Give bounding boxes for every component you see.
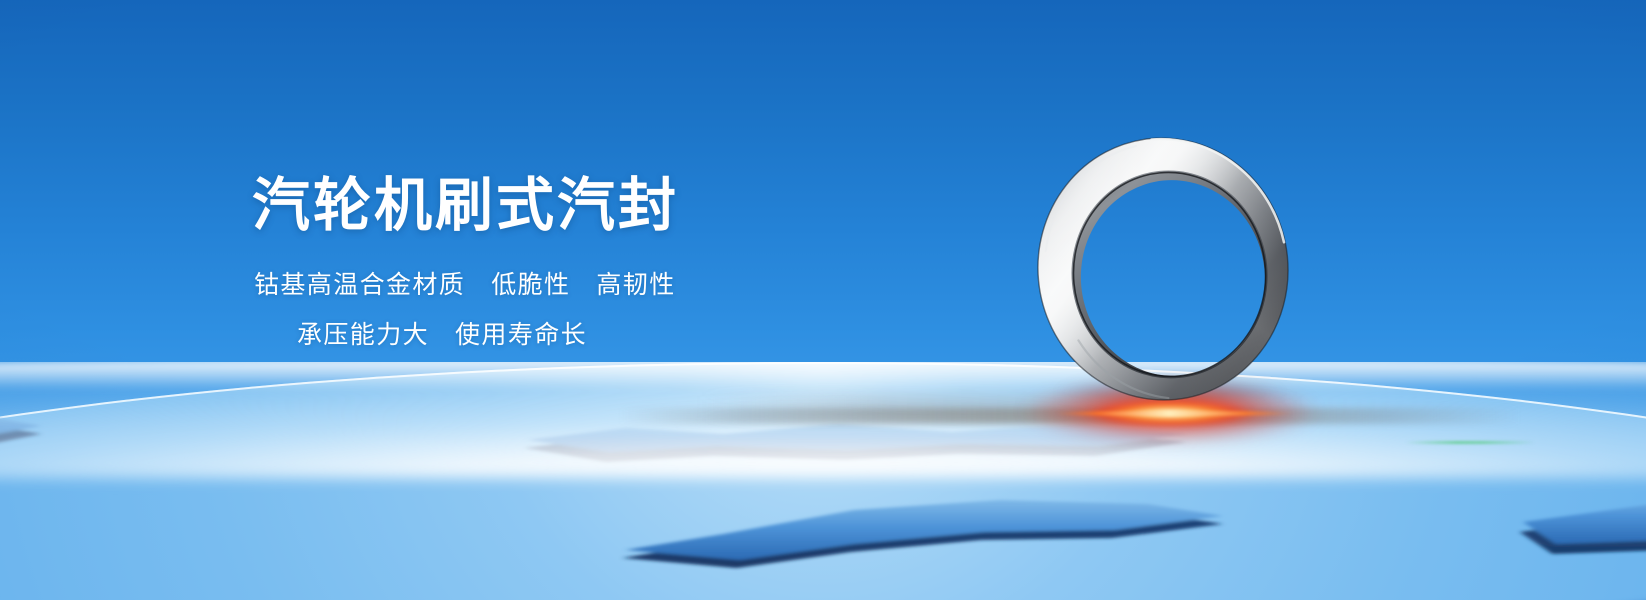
- feature-long-life: 使用寿命长: [455, 321, 587, 349]
- hero-banner: 汽轮机刷式汽封 钴基高温合金材质低脆性高韧性 承压能力大使用寿命长: [0, 0, 1646, 600]
- island-group-far-left: [0, 412, 41, 456]
- subtitle-line-1: 钴基高温合金材质低脆性高韧性: [254, 270, 676, 301]
- island-group-right: [1520, 492, 1646, 554]
- atmosphere-glow: [0, 362, 1646, 478]
- landmass-shapes: [0, 362, 1646, 600]
- feature-material: 钴基高温合金材质: [254, 271, 465, 299]
- atmosphere-rim: [0, 362, 1646, 390]
- feature-pressure-capacity: 承压能力大: [297, 321, 429, 349]
- ridge-central: [622, 500, 1223, 568]
- island-group-far-mid: [524, 424, 1187, 462]
- page-title: 汽轮机刷式汽封: [252, 176, 679, 236]
- earth-globe: [0, 362, 1646, 600]
- landmass-right-continent: [1340, 586, 1646, 600]
- globe-surface: [0, 362, 1646, 600]
- feature-low-brittleness: 低脆性: [491, 271, 570, 299]
- landmass-layer: [0, 362, 1646, 600]
- subtitle-line-2: 承压能力大使用寿命长: [297, 320, 587, 351]
- feature-high-toughness: 高韧性: [596, 271, 675, 299]
